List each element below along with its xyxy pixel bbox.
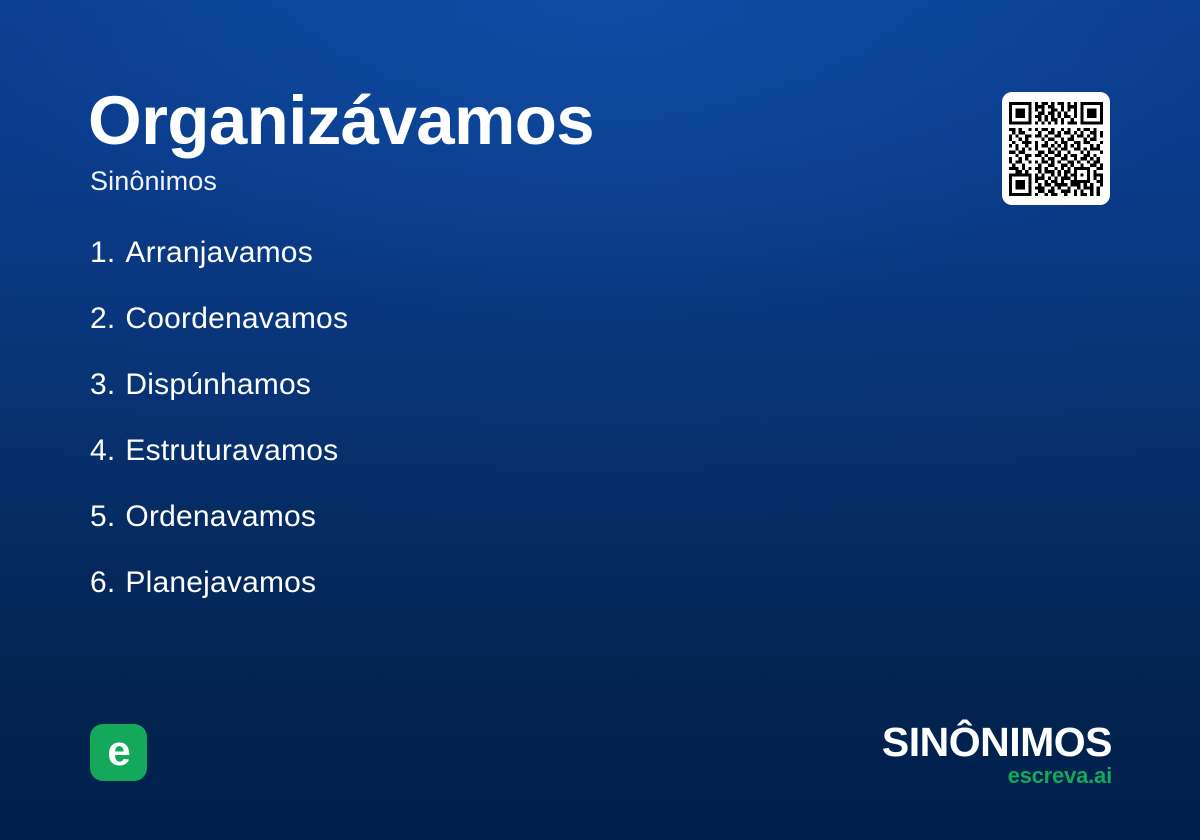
list-item-index: 1. [90, 238, 115, 268]
list-item-word: Dispúnhamos [125, 370, 311, 400]
list-item-word: Coordenavamos [125, 304, 348, 334]
logo-wordmark: SINÔNIMOS [882, 722, 1112, 763]
list-item-word: Arranjavamos [125, 238, 312, 268]
qr-code-icon [1009, 102, 1103, 196]
page-subtitle: Sinônimos [90, 168, 217, 195]
list-item-index: 5. [90, 502, 115, 532]
qr-code[interactable] [1002, 92, 1110, 205]
list-item: 4. Estruturavamos [90, 436, 790, 502]
list-item-word: Estruturavamos [125, 436, 338, 466]
list-item: 6. Planejavamos [90, 568, 790, 634]
sinonimos-logo: SINÔNIMOS escreva.ai [882, 722, 1112, 787]
list-item: 2. Coordenavamos [90, 304, 790, 370]
synonym-list: 1. Arranjavamos 2. Coordenavamos 3. Disp… [90, 238, 790, 634]
list-item-word: Planejavamos [125, 568, 316, 598]
brand-mark-letter: e [107, 730, 129, 772]
list-item: 3. Dispúnhamos [90, 370, 790, 436]
page-title: Organizávamos [88, 86, 594, 155]
logo-tagline: escreva.ai [882, 765, 1112, 787]
list-item-index: 4. [90, 436, 115, 466]
escreva-brand-mark-icon[interactable]: e [90, 724, 147, 781]
list-item: 1. Arranjavamos [90, 238, 790, 304]
list-item-index: 6. [90, 568, 115, 598]
synonym-card: Organizávamos Sinônimos [0, 0, 1200, 840]
list-item-index: 3. [90, 370, 115, 400]
list-item-index: 2. [90, 304, 115, 334]
list-item: 5. Ordenavamos [90, 502, 790, 568]
list-item-word: Ordenavamos [125, 502, 316, 532]
